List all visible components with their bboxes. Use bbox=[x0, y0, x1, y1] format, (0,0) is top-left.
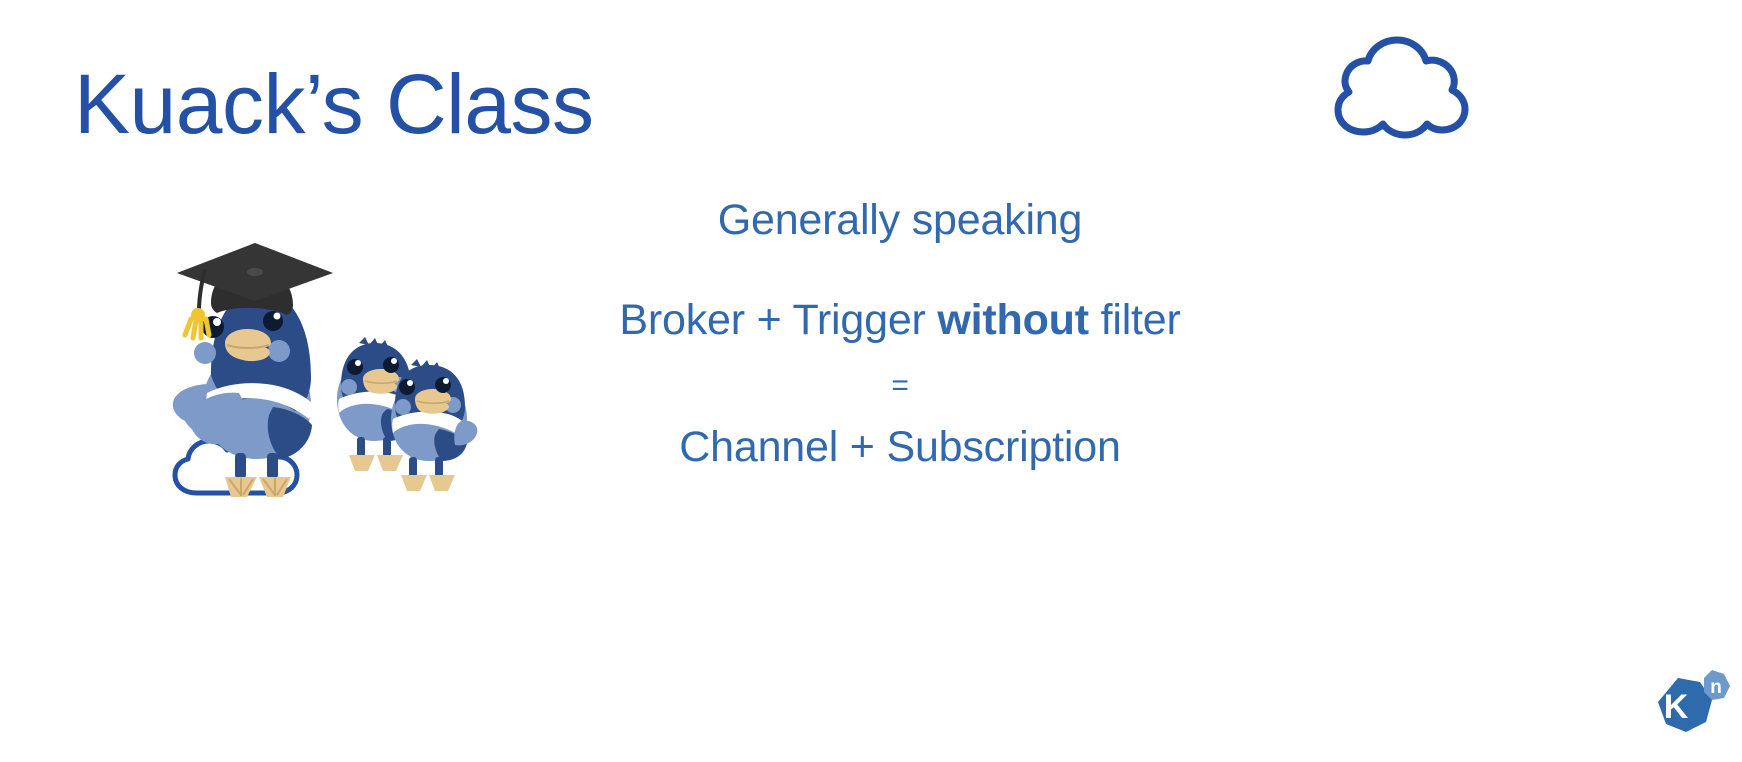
body-line-generally-speaking: Generally speaking bbox=[560, 195, 1240, 247]
graduate-bird-with-chicks-illustration bbox=[165, 225, 495, 515]
equation-suffix: filter bbox=[1089, 296, 1181, 344]
body-line-equation: Broker + Trigger without filter bbox=[560, 295, 1240, 347]
page-title: Kuack’s Class bbox=[74, 62, 593, 146]
knative-logo: K n bbox=[1648, 662, 1732, 746]
equation-emphasis-without: without bbox=[937, 296, 1088, 344]
logo-letter-n: n bbox=[1710, 677, 1722, 698]
equation-prefix: Broker + Trigger bbox=[619, 296, 937, 344]
presentation-slide: Kuack’s Class bbox=[0, 0, 1742, 762]
body-line-channel-subscription: Channel + Subscription bbox=[560, 422, 1240, 474]
logo-letter-k: K bbox=[1664, 688, 1689, 726]
body-line-equals-sign: = bbox=[560, 368, 1240, 404]
slide-body-text: Generally speaking Broker + Trigger with… bbox=[560, 195, 1240, 474]
cloud-outline-icon bbox=[1308, 28, 1486, 140]
